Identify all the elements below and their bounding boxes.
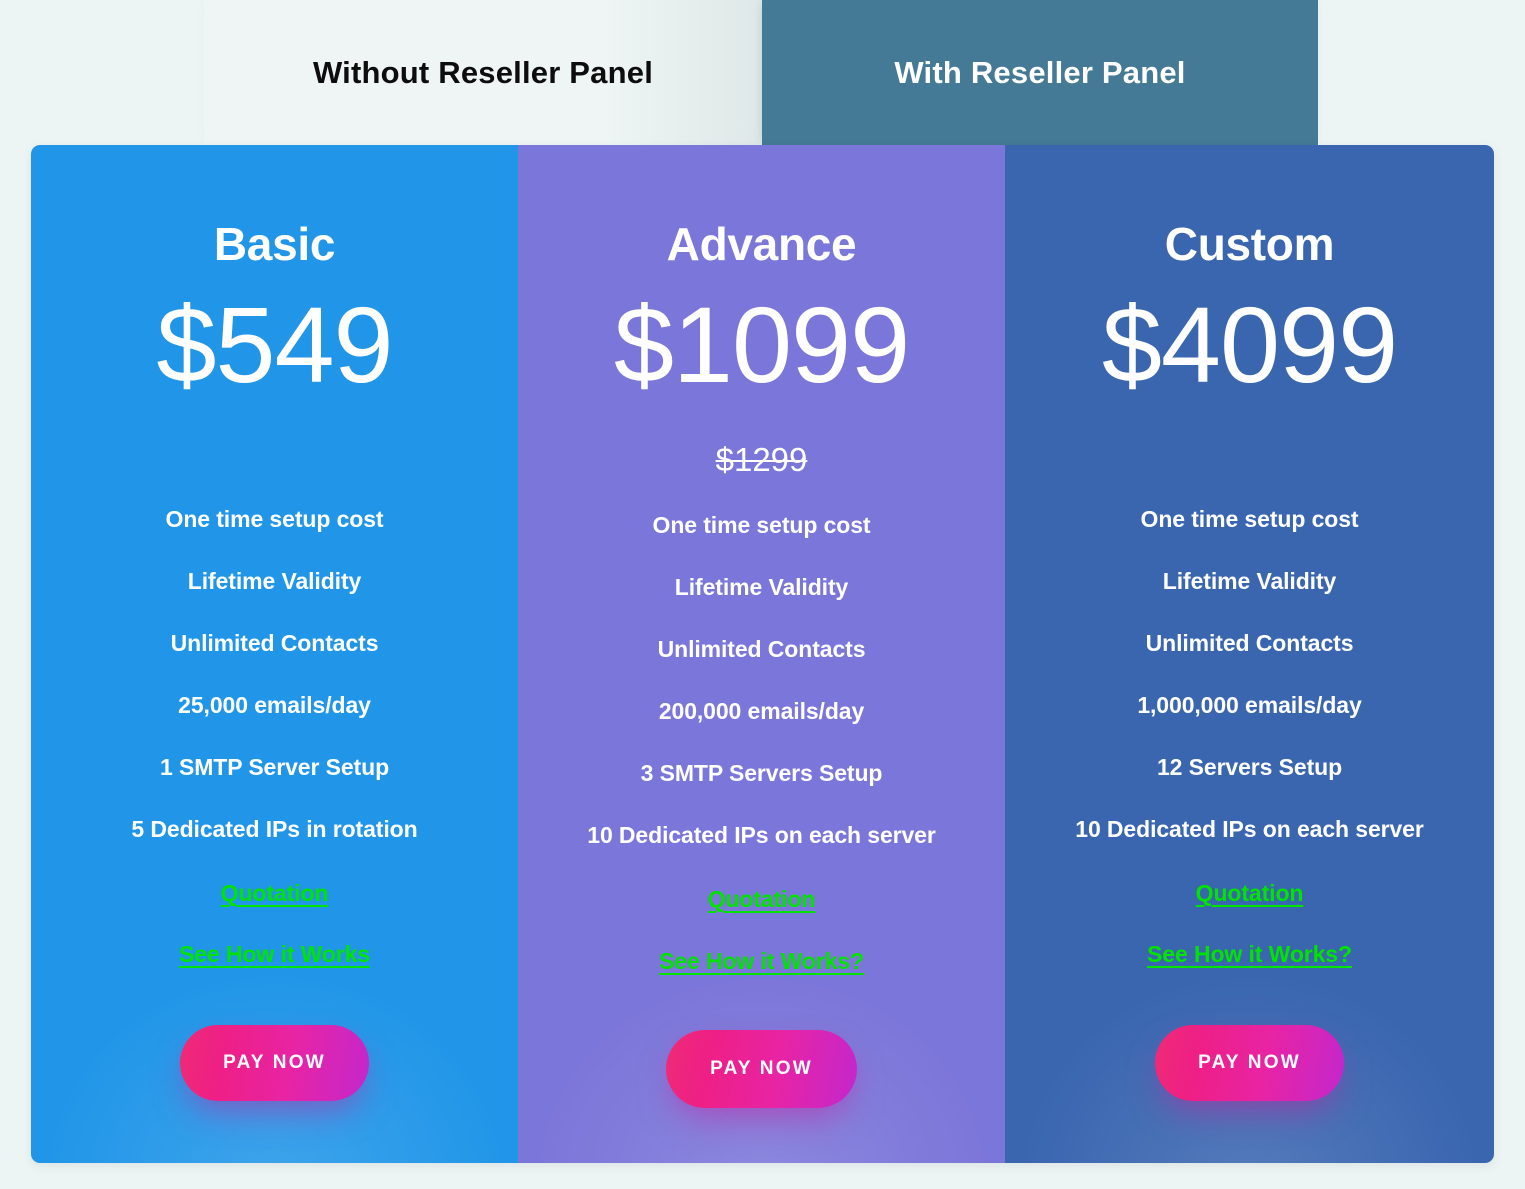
feature-item: Lifetime Validity (518, 576, 1005, 599)
how-it-works-link[interactable]: See How it Works? (1147, 941, 1352, 968)
pay-button-row: PAY NOW (518, 1030, 1005, 1108)
tab-label: Without Reseller Panel (313, 55, 653, 91)
pricing-card-custom: Custom $4099 One time setup cost Lifetim… (1005, 145, 1494, 1163)
feature-item: Lifetime Validity (31, 570, 518, 593)
feature-item: Lifetime Validity (1005, 570, 1494, 593)
plan-name: Advance (518, 221, 1005, 267)
feature-list: One time setup cost Lifetime Validity Un… (518, 514, 1005, 886)
feature-item: 3 SMTP Servers Setup (518, 762, 1005, 785)
quotation-link-row: Quotation (518, 886, 1005, 913)
pay-button-row: PAY NOW (31, 1025, 518, 1101)
feature-item: 1,000,000 emails/day (1005, 694, 1494, 717)
plan-old-price: $1299 (518, 443, 1005, 476)
quotation-link-row: Quotation (1005, 880, 1494, 907)
how-it-works-link-row: See How it Works (31, 941, 518, 968)
pricing-cards: Basic $549 One time setup cost Lifetime … (31, 145, 1494, 1163)
feature-item: One time setup cost (1005, 508, 1494, 531)
pricing-tab-bar: Without Reseller Panel With Reseller Pan… (0, 0, 1525, 145)
pay-button-row: PAY NOW (1005, 1025, 1494, 1101)
plan-name: Basic (31, 221, 518, 267)
feature-item: 1 SMTP Server Setup (31, 756, 518, 779)
feature-item: Unlimited Contacts (1005, 632, 1494, 655)
how-it-works-link-row: See How it Works? (518, 948, 1005, 975)
feature-item: 10 Dedicated IPs on each server (518, 824, 1005, 847)
quotation-link-row: Quotation (31, 880, 518, 907)
feature-item: 25,000 emails/day (31, 694, 518, 717)
tab-with-reseller-panel[interactable]: With Reseller Panel (762, 0, 1318, 145)
quotation-link[interactable]: Quotation (1196, 880, 1304, 907)
quotation-link[interactable]: Quotation (221, 880, 329, 907)
pay-now-button[interactable]: PAY NOW (180, 1025, 369, 1101)
tab-label: With Reseller Panel (894, 55, 1185, 91)
feature-item: 12 Servers Setup (1005, 756, 1494, 779)
pay-now-button[interactable]: PAY NOW (666, 1030, 857, 1108)
feature-item: 10 Dedicated IPs on each server (1005, 818, 1494, 841)
quotation-link[interactable]: Quotation (708, 886, 816, 913)
plan-price: $4099 (1005, 291, 1494, 399)
pricing-card-advance: Advance $1099 $1299 One time setup cost … (518, 145, 1005, 1163)
pricing-card-basic: Basic $549 One time setup cost Lifetime … (31, 145, 518, 1163)
how-it-works-link[interactable]: See How it Works? (659, 948, 864, 975)
plan-price: $549 (31, 291, 518, 399)
feature-list: One time setup cost Lifetime Validity Un… (31, 508, 518, 880)
tab-without-reseller-panel[interactable]: Without Reseller Panel (204, 0, 762, 145)
feature-item: Unlimited Contacts (518, 638, 1005, 661)
how-it-works-link-row: See How it Works? (1005, 941, 1494, 968)
plan-name: Custom (1005, 221, 1494, 267)
feature-item: 200,000 emails/day (518, 700, 1005, 723)
feature-item: One time setup cost (518, 514, 1005, 537)
pay-now-button[interactable]: PAY NOW (1155, 1025, 1344, 1101)
feature-item: One time setup cost (31, 508, 518, 531)
how-it-works-link[interactable]: See How it Works (179, 941, 370, 968)
feature-item: Unlimited Contacts (31, 632, 518, 655)
plan-price: $1099 (518, 291, 1005, 399)
pricing-page: Without Reseller Panel With Reseller Pan… (0, 0, 1525, 1189)
feature-list: One time setup cost Lifetime Validity Un… (1005, 508, 1494, 880)
feature-item: 5 Dedicated IPs in rotation (31, 818, 518, 841)
